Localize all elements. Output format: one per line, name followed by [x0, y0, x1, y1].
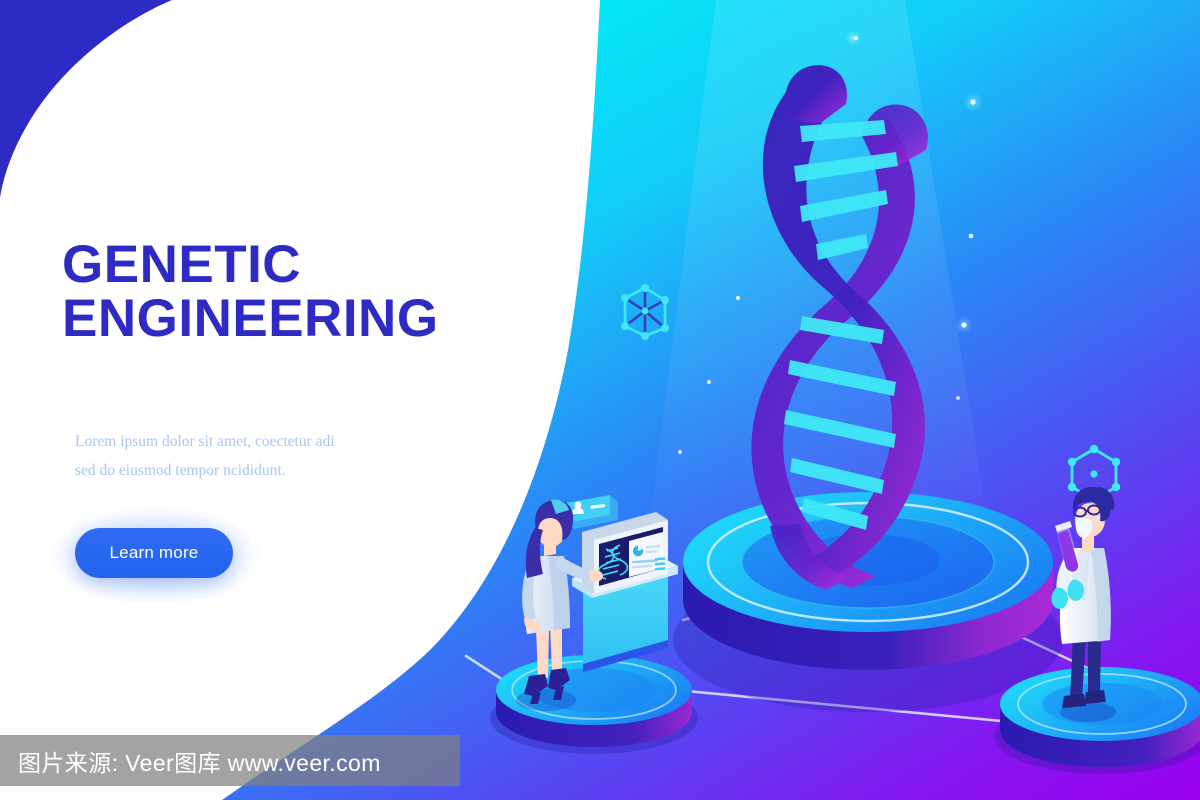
watermark-text: 图片来源: Veer图库 www.veer.com [18, 744, 381, 778]
poster-canvas: GENETIC ENGINEERING Lorem ipsum dolor si… [0, 0, 1200, 800]
illustration-svg [0, 0, 1200, 800]
hero-text-column: GENETIC ENGINEERING Lorem ipsum dolor si… [62, 238, 482, 346]
page-title: GENETIC ENGINEERING [62, 238, 482, 346]
watermark-bar: 图片来源: Veer图库 www.veer.com [0, 735, 460, 786]
cta-wrapper: Learn more [75, 528, 233, 578]
illustration-artboard [0, 0, 1200, 800]
hero-subcopy: Lorem ipsum dolor sit amet, coectetur ad… [75, 428, 435, 485]
learn-more-button[interactable]: Learn more [75, 528, 233, 578]
desk-with-monitor [572, 512, 678, 672]
